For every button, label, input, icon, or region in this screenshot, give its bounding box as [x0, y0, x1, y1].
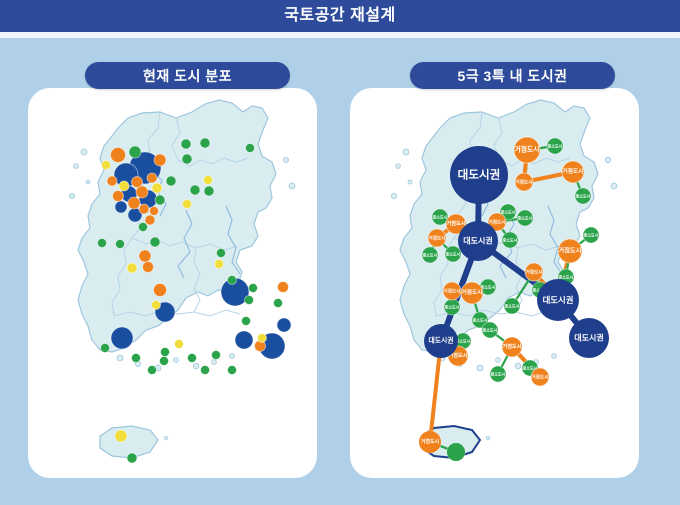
- city-dot-orange: [139, 250, 151, 262]
- city-dot-orange: [132, 177, 143, 188]
- city-dot-green: [155, 195, 165, 205]
- maps-canvas: 중소도시중소도시중소도시중소도시중소도시중소도시중소도시중소도시중소도시중소도시…: [0, 0, 680, 505]
- city-dot-yellow: [215, 260, 224, 269]
- hub-city-node-label: 거점도시: [446, 219, 465, 227]
- city-dot-green: [166, 176, 176, 186]
- city-dot-orange: [150, 207, 159, 216]
- city-dot-green: [150, 237, 160, 247]
- city-dot-green: [182, 154, 192, 164]
- city-dot-green: [228, 276, 237, 285]
- city-dot-green: [217, 249, 226, 258]
- city-dot-green: [249, 284, 258, 293]
- hub-city-node-label: 거점도시: [461, 288, 482, 296]
- city-dot-green: [160, 357, 169, 366]
- metro-region-node-label: 대도시권: [463, 236, 492, 246]
- city-dot-green: [201, 366, 210, 375]
- small-city-node-label: 중소도시: [423, 252, 438, 258]
- small-city-node-label: 중소도시: [548, 143, 563, 149]
- city-dot-orange: [139, 204, 149, 214]
- city-dot-green: [246, 144, 255, 153]
- hub-city-node-label: 거점도시: [559, 247, 582, 255]
- city-dot-green: [242, 317, 251, 326]
- metro-region-node-label: 대도시권: [458, 168, 501, 182]
- jeju-small-city-node: [447, 443, 465, 461]
- small-city-node-label: 중소도시: [503, 237, 518, 243]
- city-dot-green: [204, 186, 214, 196]
- city-dot-green: [161, 348, 170, 357]
- hub-city-node-label: 거점도시: [428, 235, 445, 242]
- city-dot-orange: [154, 154, 166, 166]
- city-dot-orange: [154, 284, 167, 297]
- small-city-node-label: 중소도시: [473, 317, 488, 323]
- small-city-node-label: 중소도시: [505, 303, 520, 309]
- left-map-korea: [69, 100, 295, 458]
- city-dot-green: [181, 139, 191, 149]
- city-dot-blue: [111, 327, 133, 349]
- small-city-node-label: 중소도시: [501, 209, 516, 215]
- small-city-node-label: 중소도시: [433, 214, 448, 220]
- city-dot-orange: [145, 215, 155, 225]
- hub-city-node-label: 거점도시: [488, 219, 505, 226]
- jeju-hub-city-node-label: 거점도시: [421, 438, 440, 445]
- city-dot-yellow: [127, 263, 137, 273]
- city-dot-blue: [115, 201, 127, 213]
- city-dot-green: [228, 366, 237, 375]
- city-dot-green: [132, 354, 141, 363]
- city-dot-green: [98, 239, 107, 248]
- hub-city-node-label: 거점도시: [531, 374, 548, 381]
- small-city-node-label: 중소도시: [559, 274, 574, 280]
- city-dot-yellow: [115, 430, 127, 442]
- city-dot-orange: [111, 148, 126, 163]
- city-dot-orange: [278, 282, 289, 293]
- city-dot-yellow: [183, 200, 192, 209]
- small-city-node-label: 중소도시: [481, 284, 496, 290]
- city-dot-green: [245, 296, 254, 305]
- small-city-node-label: 중소도시: [584, 232, 599, 238]
- right-map-korea: [391, 100, 617, 458]
- city-dot-green: [200, 138, 210, 148]
- city-dot-orange: [147, 173, 157, 183]
- city-dot-orange: [113, 191, 124, 202]
- city-dot-yellow: [102, 161, 111, 170]
- hub-city-node-label: 거점도시: [515, 179, 532, 186]
- city-dot-yellow: [204, 176, 213, 185]
- city-dot-orange: [143, 262, 154, 273]
- city-dot-green: [116, 240, 125, 249]
- city-dot-yellow: [119, 181, 129, 191]
- small-city-node-label: 중소도시: [446, 251, 461, 257]
- hub-city-node-label: 거점도시: [562, 167, 583, 175]
- small-city-node-label: 중소도시: [445, 304, 460, 310]
- small-city-node-label: 중소도시: [483, 327, 498, 333]
- city-dot-yellow: [258, 334, 267, 343]
- city-dot-green: [139, 223, 148, 232]
- city-dot-yellow: [175, 340, 184, 349]
- small-city-node-label: 중소도시: [576, 193, 591, 199]
- city-dot-green: [127, 453, 137, 463]
- metro-region-node-label: 대도시권: [543, 295, 574, 305]
- city-dot-green: [101, 344, 110, 353]
- small-city-node-label: 중소도시: [491, 371, 506, 377]
- city-dot-green: [274, 299, 283, 308]
- city-dot-green: [148, 366, 157, 375]
- small-city-node-label: 중소도시: [518, 215, 533, 221]
- hub-city-node-label: 거점도시: [515, 145, 540, 154]
- city-dot-blue: [235, 331, 253, 349]
- metro-region-node-label: 대도시권: [574, 333, 603, 343]
- city-dot-green: [212, 351, 221, 360]
- city-dot-green: [129, 146, 141, 158]
- city-dot-green: [190, 185, 200, 195]
- city-dot-blue: [277, 318, 291, 332]
- metro-region-node-label: 대도시권: [428, 336, 453, 345]
- hub-city-node-label: 거점도시: [443, 288, 460, 295]
- city-dot-orange: [107, 176, 117, 186]
- hub-city-node-label: 거점도시: [525, 269, 542, 276]
- city-dot-yellow: [152, 301, 161, 310]
- city-dot-green: [188, 354, 197, 363]
- city-dot-yellow: [152, 183, 162, 193]
- city-dot-orange: [128, 197, 140, 209]
- hub-city-node-label: 거점도시: [502, 342, 521, 350]
